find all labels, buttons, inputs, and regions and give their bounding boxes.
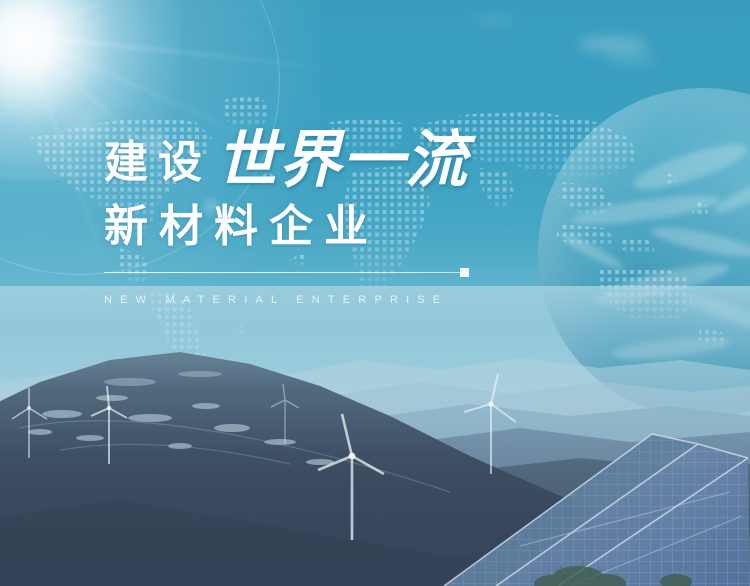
headline-line-1: 建设 世界一流 [104,126,524,196]
divider [104,272,468,273]
mountain-ridges [0,286,750,586]
banner-text-block: 建设 世界一流 新材料企业 NEW MATERIAL ENTERPRISE [104,126,524,306]
headline-emphasis-text: 世界一流 [216,130,468,192]
divider-end-cap [460,268,469,277]
hero-banner: 建设 世界一流 新材料企业 NEW MATERIAL ENTERPRISE [0,0,750,586]
cloud-wisp [470,16,516,25]
cloud-wisp [578,36,648,52]
headline-line-2: 新材料企业 [104,204,524,250]
subtitle: NEW MATERIAL ENTERPRISE [104,294,524,306]
headline-plain-text: 建设 [104,141,212,185]
